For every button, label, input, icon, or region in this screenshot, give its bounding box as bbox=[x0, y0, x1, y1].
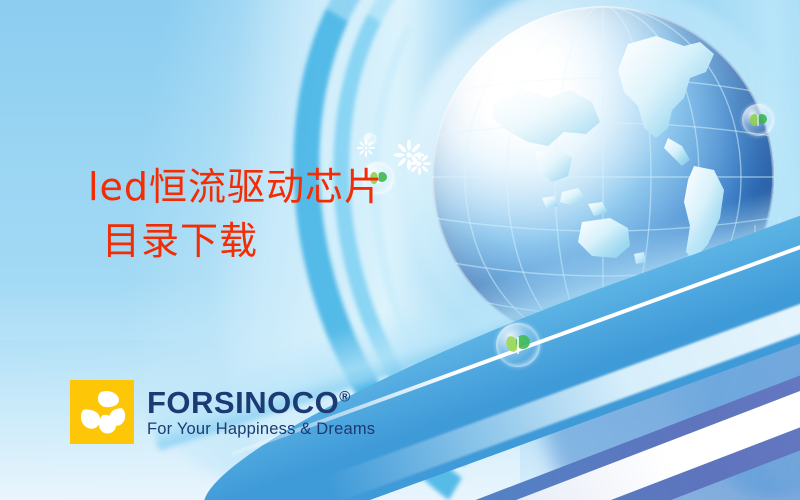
logo-text-block: FORSINOCO® For Your Happiness & Dreams bbox=[147, 386, 375, 439]
logo-wordmark-text: FORSINOCO bbox=[147, 385, 339, 420]
headline: led恒流驱动芯片 目录下载 bbox=[88, 160, 383, 268]
logo-tagline: For Your Happiness & Dreams bbox=[147, 419, 375, 439]
headline-line-2: 目录下载 bbox=[88, 214, 383, 268]
headline-line-1: led恒流驱动芯片 bbox=[88, 165, 383, 209]
bubble-plain-small bbox=[364, 133, 376, 145]
bubble-with-green-sprout-bottom bbox=[496, 323, 540, 367]
logo-wordmark: FORSINOCO® bbox=[147, 386, 375, 419]
company-logo: FORSINOCO® For Your Happiness & Dreams bbox=[70, 380, 375, 444]
forsinoco-pinwheel-mark-icon bbox=[70, 380, 134, 444]
green-sprout-icon bbox=[742, 104, 774, 136]
registered-trademark-symbol: ® bbox=[339, 388, 351, 405]
bubble-with-green-sprout-right bbox=[742, 104, 774, 136]
sparkle-flower-right-icon bbox=[408, 152, 431, 175]
promotional-banner: led恒流驱动芯片 目录下载 FORSINOCO® For Your Happi… bbox=[0, 0, 800, 500]
city-skyline-silhouette bbox=[690, 215, 800, 335]
green-sprout-icon bbox=[496, 323, 540, 367]
